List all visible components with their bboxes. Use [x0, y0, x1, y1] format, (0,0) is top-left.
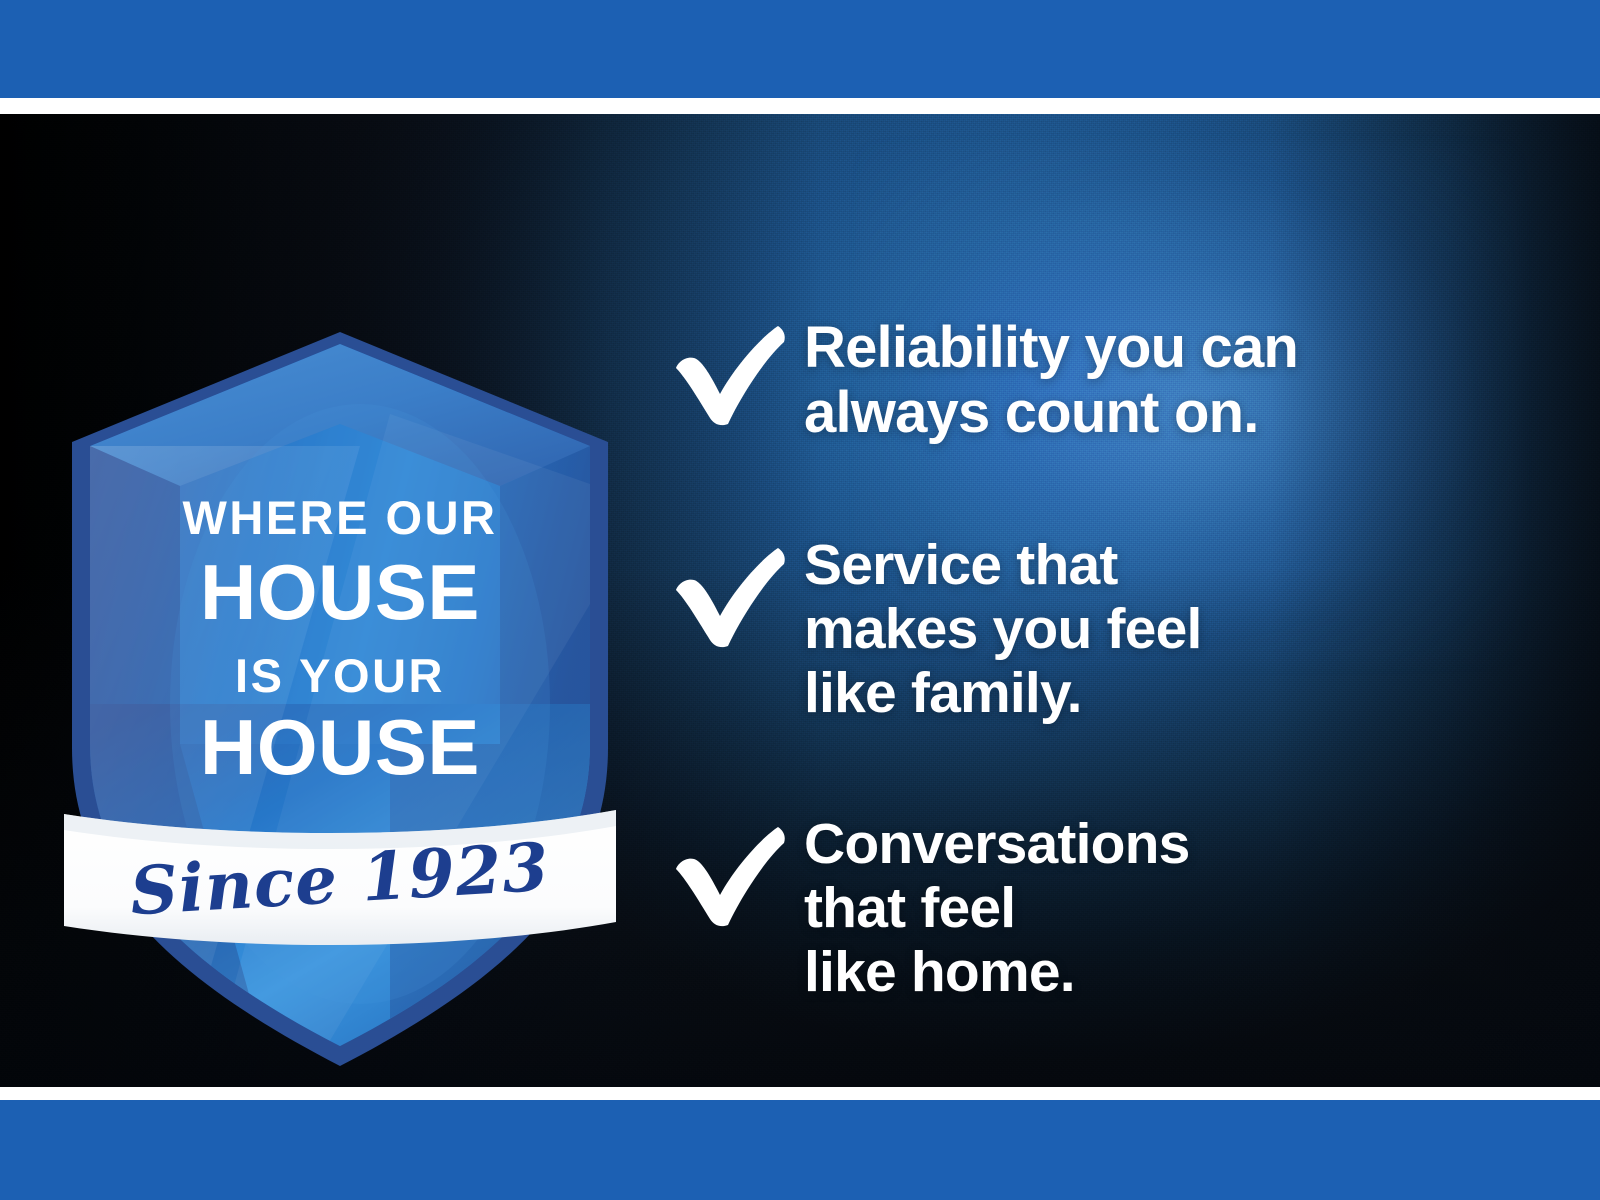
list-item: Service that makes you feel like family. — [672, 532, 1492, 725]
promo-banner: WHERE OUR HOUSE IS YOUR HOUSE Since 1923… — [0, 0, 1600, 1200]
brand-shield-logo: WHERE OUR HOUSE IS YOUR HOUSE Since 1923 — [60, 274, 620, 1074]
check-icon — [672, 546, 804, 650]
bottom-white-divider — [0, 1087, 1600, 1100]
benefits-list: Reliability you can always count on. Ser… — [672, 314, 1492, 1005]
top-brand-bar — [0, 0, 1600, 98]
list-item-text: Conversations that feel like home. — [804, 811, 1190, 1004]
logo-line-2: HOUSE — [200, 548, 480, 636]
list-item-text: Reliability you can always count on. — [804, 314, 1298, 446]
check-icon — [672, 324, 804, 428]
list-item: Reliability you can always count on. — [672, 314, 1492, 446]
bottom-brand-bar — [0, 1100, 1600, 1200]
logo-line-4: HOUSE — [200, 703, 480, 791]
top-white-divider — [0, 98, 1600, 114]
main-stage: WHERE OUR HOUSE IS YOUR HOUSE Since 1923… — [0, 114, 1600, 1087]
check-icon — [672, 825, 804, 929]
logo-line-3: IS YOUR — [235, 649, 445, 702]
list-item-text: Service that makes you feel like family. — [804, 532, 1202, 725]
logo-line-1: WHERE OUR — [183, 491, 498, 544]
list-item: Conversations that feel like home. — [672, 811, 1492, 1004]
